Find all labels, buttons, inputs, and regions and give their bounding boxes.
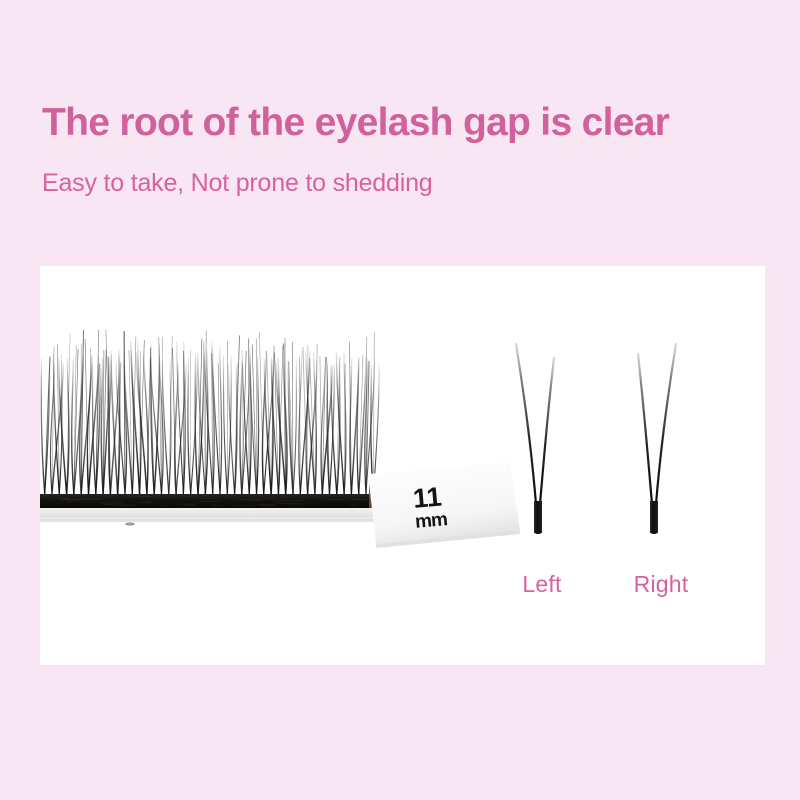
- fan-label-right: Right: [591, 571, 731, 598]
- product-feature-image: The root of the eyelash gap is clear Eas…: [0, 0, 800, 800]
- measurement-unit: mm: [414, 509, 448, 533]
- page-subtitle: Easy to take, Not prone to shedding: [42, 170, 432, 198]
- page-headline: The root of the eyelash gap is clear: [42, 103, 669, 144]
- single-fan-left: [482, 336, 602, 551]
- single-fan-right: [600, 336, 720, 551]
- product-photo-panel: 11 mm: [40, 266, 765, 665]
